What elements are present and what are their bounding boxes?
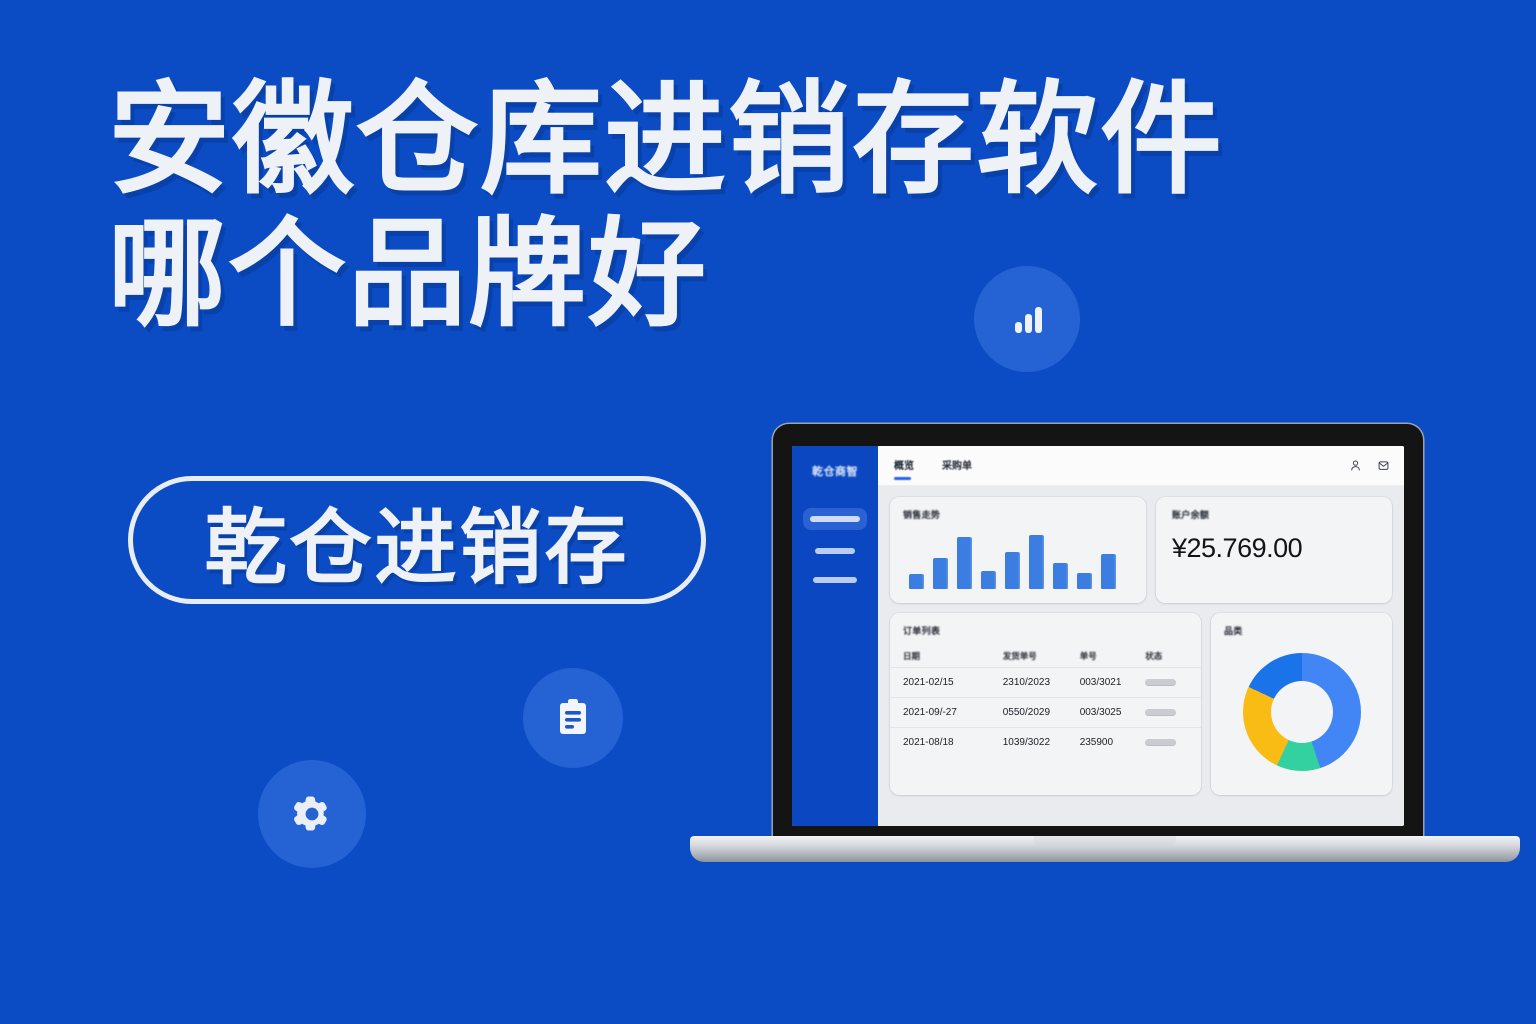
cell-date: 2021-09/-27: [903, 707, 1003, 718]
balance-title: 账户余额: [1172, 508, 1379, 521]
headline-line-2: 哪个品牌好: [108, 209, 1508, 341]
app-sidebar: 乾仓商智: [792, 446, 878, 826]
gear-icon: [258, 760, 366, 868]
cell-date: 2021-08/18: [903, 737, 1003, 748]
column-header-code: 单号: [1080, 650, 1146, 662]
cell-code: 003/3021: [1080, 677, 1146, 688]
tab-purchase-orders[interactable]: 采购单: [942, 457, 972, 474]
order-list-title: 订单列表: [890, 624, 1201, 637]
sidebar-item-reports[interactable]: [803, 572, 867, 588]
headline-line-1: 安徽仓库进销存软件: [108, 72, 1508, 209]
inbox-icon[interactable]: [1377, 459, 1390, 472]
balance-value: ¥25.769.00: [1172, 533, 1379, 564]
sidebar-nav: [792, 508, 878, 588]
dashboard-row-top: 销售走势 账户余额 ¥25.769.00: [890, 497, 1392, 603]
table-row[interactable]: 2021-09/-270550/2029003/3025: [890, 697, 1201, 727]
laptop-mockup: 乾仓商智 概览 采购单: [690, 424, 1520, 874]
bar-chart-icon: [974, 266, 1080, 372]
brand-badge: 乾仓进销存: [128, 476, 706, 604]
bar-7: [1053, 563, 1068, 589]
clipboard-icon: [523, 668, 623, 768]
cell-status: [1145, 709, 1188, 716]
category-card: 品类: [1211, 613, 1392, 795]
balance-card: 账户余额 ¥25.769.00: [1156, 497, 1392, 603]
brand-badge-label: 乾仓进销存: [204, 481, 629, 600]
donut-hole: [1243, 653, 1361, 771]
sidebar-item-glyph: [813, 577, 857, 583]
status-badge: [1145, 709, 1176, 716]
sidebar-item-glyph: [815, 548, 855, 554]
table-row[interactable]: 2021-02/152310/2023003/3021: [890, 667, 1201, 697]
table-row[interactable]: 2021-08/181039/3022235900: [890, 727, 1201, 757]
bar-1: [909, 574, 924, 589]
cell-status: [1145, 679, 1188, 686]
status-badge: [1145, 739, 1176, 746]
cell-order: 0550/2029: [1003, 707, 1080, 718]
user-icon[interactable]: [1349, 459, 1362, 472]
cell-date: 2021-02/15: [903, 677, 1003, 688]
sales-trend-title: 销售走势: [903, 508, 1133, 521]
bar-3: [957, 537, 972, 589]
bar-2: [933, 558, 948, 589]
topbar-icons: [1349, 459, 1390, 472]
app-main: 概览 采购单: [878, 446, 1404, 826]
app-topbar: 概览 采购单: [878, 446, 1404, 486]
app-logo: 乾仓商智: [792, 463, 878, 479]
cell-order: 2310/2023: [1003, 677, 1080, 688]
laptop-screen: 乾仓商智 概览 采购单: [792, 446, 1404, 826]
laptop-lid: 乾仓商智 概览 采购单: [773, 424, 1423, 842]
bar-8: [1077, 573, 1092, 589]
cell-status: [1145, 739, 1188, 746]
sales-trend-card: 销售走势: [890, 497, 1146, 603]
app-body: 销售走势 账户余额 ¥25.769.00 订单列表: [878, 486, 1404, 826]
column-header-status: 状态: [1145, 650, 1188, 662]
donut-chart: [1224, 640, 1379, 784]
bar-chart: [903, 524, 1133, 592]
bar-5: [1005, 552, 1020, 589]
laptop-base-notch: [1034, 836, 1176, 847]
status-badge: [1145, 679, 1176, 686]
order-list-card: 订单列表 日期 发货单号 单号 状态 2021-02/152310/202300…: [890, 613, 1201, 795]
bar-9: [1101, 554, 1116, 589]
cell-order: 1039/3022: [1003, 737, 1080, 748]
dashboard-row-bottom: 订单列表 日期 发货单号 单号 状态 2021-02/152310/202300…: [890, 613, 1392, 795]
column-header-order: 发货单号: [1003, 650, 1080, 662]
bar-4: [981, 571, 996, 589]
column-header-date: 日期: [903, 650, 1003, 662]
table-header-row: 日期 发货单号 单号 状态: [890, 645, 1201, 667]
bar-6: [1029, 535, 1044, 589]
order-table: 日期 发货单号 单号 状态 2021-02/152310/2023003/302…: [890, 645, 1201, 757]
category-title: 品类: [1224, 624, 1379, 637]
sidebar-item-inventory[interactable]: [803, 543, 867, 559]
cell-code: 003/3025: [1080, 707, 1146, 718]
tab-overview[interactable]: 概览: [894, 457, 914, 474]
table-body: 2021-02/152310/2023003/30212021-09/-2705…: [890, 667, 1201, 757]
cell-code: 235900: [1080, 737, 1146, 748]
sidebar-item-home[interactable]: [803, 508, 867, 530]
sidebar-item-glyph: [810, 516, 860, 522]
page-headline: 安徽仓库进销存软件 哪个品牌好: [108, 72, 1508, 341]
donut-ring: [1243, 653, 1361, 771]
